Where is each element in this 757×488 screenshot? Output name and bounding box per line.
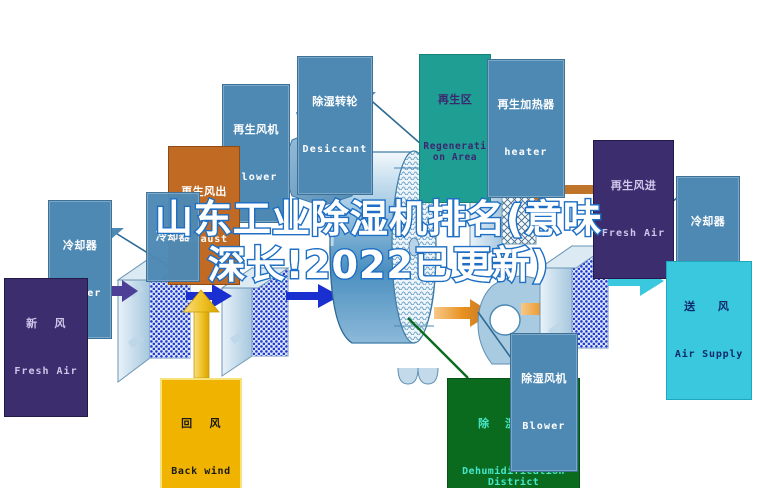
label-dehumidification-blower-en: Blower — [513, 421, 575, 432]
dehumidifier-diagram: 除湿转轮 Desiccant 再生风机 Blower 再生风出 Exhaust … — [0, 0, 757, 488]
label-regeneration-area[interactable]: 再生区 Regenerati on Area — [419, 54, 491, 203]
label-regeneration-heater-cn: 再生加热器 — [490, 99, 562, 111]
label-regeneration-blower-cn: 再生风机 — [225, 124, 287, 136]
rotor-support — [398, 368, 438, 384]
label-regeneration-heater-en: heater — [490, 147, 562, 158]
label-dehumidification-blower[interactable]: 除湿风机 Blower — [510, 333, 578, 472]
label-fresh-air-inlet-cn: 新 风 — [7, 318, 85, 330]
label-desiccant-rotor-en: Desiccant — [300, 144, 370, 155]
label-air-supply-outlet-cn: 送 风 — [669, 301, 749, 313]
label-regeneration-area-en: Regenerati on Area — [422, 142, 488, 163]
label-desiccant-rotor-cn: 除湿转轮 — [300, 96, 370, 108]
label-cooler-right-cn: 冷却器 — [679, 216, 737, 228]
label-cooler-mid[interactable]: 冷却器 — [146, 192, 200, 282]
label-dehumidification-blower-cn: 除湿风机 — [513, 373, 575, 385]
label-back-wind-inlet-en: Back wind — [164, 466, 238, 477]
label-fresh-air-inlet[interactable]: 新 风 Fresh Air — [4, 278, 88, 417]
label-regeneration-heater[interactable]: 再生加热器 heater — [487, 59, 565, 198]
label-cooler-mid-cn: 冷却器 — [149, 231, 197, 243]
label-regeneration-fresh-air-en: Fresh Air — [596, 228, 671, 239]
label-regeneration-fresh-air[interactable]: 再生风进 Fresh Air — [593, 140, 674, 279]
label-air-supply-outlet-en: Air Supply — [669, 349, 749, 360]
label-regeneration-fresh-air-cn: 再生风进 — [596, 180, 671, 192]
label-air-supply-outlet[interactable]: 送 风 Air Supply — [666, 261, 752, 400]
label-desiccant-rotor[interactable]: 除湿转轮 Desiccant — [297, 56, 373, 195]
label-back-wind-inlet-cn: 回 风 — [164, 418, 238, 430]
label-fresh-air-inlet-en: Fresh Air — [7, 366, 85, 377]
label-cooler-left-cn: 冷却器 — [51, 240, 109, 252]
label-back-wind-inlet[interactable]: 回 风 Back wind — [160, 378, 242, 488]
label-regeneration-area-cn: 再生区 — [422, 94, 488, 106]
